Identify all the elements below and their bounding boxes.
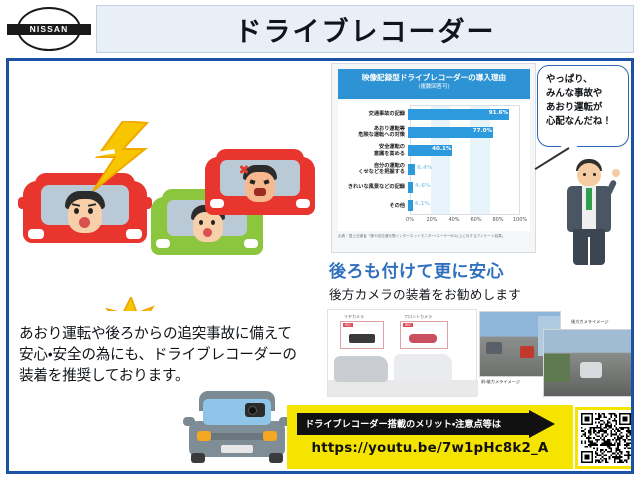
chart-bar-wrapper: 40.1% [408, 145, 518, 156]
necktie [586, 188, 592, 210]
banner-arrow: ドライブレコーダー搭載のメリット・注意点等は [297, 413, 563, 435]
rear-camera-unit-icon [349, 334, 375, 343]
bubble-line-4: 心配なんだね！ [546, 115, 622, 129]
dashcam-icon [245, 403, 265, 417]
youtube-url[interactable]: https://youtu.be/7w1pHc8k2_A [287, 441, 573, 456]
chart-bar-wrapper: 6.4% [408, 164, 518, 175]
chart-bar-row: 安全運転の意識を高める40.1% [338, 142, 530, 160]
bubble-line-2: みんな事故や [546, 87, 622, 101]
head [577, 163, 601, 187]
illustration-red-car-angry [205, 149, 315, 219]
chart-value-label: 40.1% [432, 146, 451, 152]
chart-x-tick: 80% [492, 217, 503, 223]
chart-bars: 交通事故の記録91.6%あおり運転等危険な運転への対策77.0%安全運転の意識を… [338, 105, 530, 215]
wheel-right [269, 453, 283, 463]
anger-mark-icon [239, 163, 253, 177]
blue-headline-block: 後ろも付けて更に安心 後方カメラの装着をお勧めします [329, 257, 589, 303]
banner-arrow-text: ドライブレコーダー搭載のメリット・注意点等は [305, 416, 501, 430]
nissan-logo: NISSAN [6, 6, 92, 52]
chart-bar [408, 164, 415, 175]
front-rear-photo-caption: 前・後カメライメージ [481, 379, 520, 385]
rear-camera-closeup: REC [340, 321, 384, 349]
chart-category-label: きれいな風景などの記録 [338, 184, 408, 190]
chart-bar-row: 自分の運転のくせなどを把握する6.4% [338, 160, 530, 178]
chart-category-label: 自分の運転のくせなどを把握する [338, 163, 408, 176]
chart-value-label: 4.1% [415, 201, 431, 207]
slide-root: NISSAN ドライブレコーダー [0, 0, 640, 480]
chart-x-tick: 20% [426, 217, 437, 223]
eye-left [74, 208, 79, 214]
eye-right [88, 208, 93, 214]
speech-bubble: やっぱり、 みんな事故や あおり運転が 心配なんだね！ [537, 65, 629, 147]
salesman-illustration [561, 157, 621, 269]
rec-tag: REC [343, 323, 353, 327]
bubble-line-3: あおり運転が [546, 101, 622, 115]
rear-camera-label: リヤカメラ [344, 314, 364, 320]
front-camera-label: フロントカメラ [404, 314, 432, 320]
car-with-dashcam-illustration [187, 391, 287, 465]
car-grille [209, 433, 265, 440]
mouth [203, 228, 212, 237]
chart-bar [408, 182, 413, 193]
headlight-right [263, 431, 277, 441]
headlight-left [210, 199, 224, 208]
bubble-line-1: やっぱり、 [546, 73, 622, 87]
arrow-tip [529, 410, 555, 438]
chart-value-label: 77.0% [473, 128, 492, 134]
rear-camera-photo [543, 329, 634, 397]
camera-diagram-strip: リヤカメラ フロントカメラ REC REC 前・後 [327, 309, 634, 401]
chart-bar-row: その他4.1% [338, 197, 530, 215]
blue-heading: 後ろも付けて更に安心 [329, 257, 589, 282]
front-camera-closeup: REC [400, 321, 448, 349]
chart-category-label: あおり運転等危険な運転への対策 [338, 126, 408, 139]
title-bar: ドライブレコーダー [96, 5, 634, 53]
mini-car-front [394, 354, 452, 382]
qr-code-frame[interactable] [575, 407, 634, 469]
chart-bar-row: 交通事故の記録91.6% [338, 105, 530, 123]
chart-header: 映像記録型ドライブレコーダーの導入理由 (複数回答可) [338, 69, 530, 99]
chart-value-label: 91.6% [489, 110, 508, 116]
mirror-left [183, 417, 195, 426]
recommendation-line-1: あおり運転や後ろからの追突事故に備えて [19, 323, 329, 344]
hand [612, 169, 620, 177]
chart-x-tick: 60% [470, 217, 481, 223]
chart-bar-wrapper: 4.6% [408, 182, 518, 193]
recommendation-text: あおり運転や後ろからの追突事故に備えて 安心・安全の為にも、ドライブレコーダーの… [19, 323, 329, 386]
chart-value-label: 6.4% [417, 165, 433, 171]
page-title: ドライブレコーダー [235, 10, 496, 49]
rear-photo-caption: 後方カメライメージ [571, 319, 609, 325]
qr-code[interactable] [581, 413, 631, 463]
jacket-left [567, 186, 582, 232]
chart-bar-row: あおり運転等危険な運転への対策77.0% [338, 123, 530, 141]
collision-burst-icon [105, 297, 157, 311]
camera-mounting-diagram: リヤカメラ フロントカメラ REC REC [327, 309, 477, 397]
eye-left [583, 173, 586, 176]
youtube-banner[interactable]: ドライブレコーダー搭載のメリット・注意点等は https://youtu.be/… [287, 405, 573, 469]
chart-x-tick: 40% [448, 217, 459, 223]
eye-left [199, 220, 203, 225]
chart-title: 映像記録型ドライブレコーダーの導入理由 [338, 72, 530, 83]
chart-bar [408, 200, 413, 211]
scared-driver-face [65, 191, 105, 235]
headlight-left [156, 239, 170, 248]
headlight-left [28, 229, 44, 239]
eye-right [593, 173, 596, 176]
mouth [254, 188, 266, 196]
blue-subheading: 後方カメラの装着をお勧めします [329, 284, 589, 303]
recommendation-line-3: 装着を推奨しております。 [19, 365, 329, 386]
content-frame: ヒヤー [6, 58, 634, 474]
license-plate [221, 445, 253, 453]
rec-tag: REC [403, 323, 413, 327]
photo-car [520, 346, 534, 358]
headlight-right [126, 229, 142, 239]
chart-bar-row: きれいな風景などの記録4.6% [338, 178, 530, 196]
chart-category-label: 安全運転の意識を高める [338, 144, 408, 157]
mouth [79, 217, 90, 228]
chart-source: 出典：国土交通省「第６回交通月間インターネットモニター・ユーザー81以上に対する… [338, 234, 534, 239]
chart-value-label: 4.6% [415, 183, 431, 189]
headlight-left [197, 431, 211, 441]
logo-text: NISSAN [7, 24, 91, 35]
headlight-right [296, 199, 310, 208]
photo-car [580, 362, 602, 378]
photo-trees [544, 354, 570, 382]
chart-bar-wrapper: 91.6% [408, 109, 518, 120]
headlight-right [244, 239, 258, 248]
chart-x-axis: 0%20%40%60%80%100% [410, 217, 520, 227]
mini-car-rear [334, 356, 388, 382]
chart-category-label: その他 [338, 203, 408, 209]
wheel-left [191, 453, 205, 463]
survey-chart-card: 映像記録型ドライブレコーダーの導入理由 (複数回答可) 交通事故の記録91.6%… [331, 63, 536, 253]
photo-car [486, 342, 502, 354]
chart-bar-wrapper: 77.0% [408, 127, 518, 138]
chart-category-label: 交通事故の記録 [338, 111, 408, 117]
road-surface [328, 380, 478, 396]
chart-bar-wrapper: 4.1% [408, 200, 518, 211]
chart-x-tick: 0% [406, 217, 414, 223]
page-header: NISSAN ドライブレコーダー [0, 0, 640, 58]
mirror-left [18, 197, 30, 209]
illustration-area: ヒヤー [9, 61, 327, 311]
angry-driver-face [243, 165, 277, 203]
front-camera-unit-icon [409, 334, 437, 343]
chart-plot-area: 交通事故の記録91.6%あおり運転等危険な運転への対策77.0%安全運転の意識を… [338, 101, 530, 231]
chart-x-tick: 100% [513, 217, 527, 223]
chart-subtitle: (複数回答可) [338, 83, 530, 92]
recommendation-line-2: 安心・安全の為にも、ドライブレコーダーの [19, 344, 329, 365]
eye-right [211, 220, 215, 225]
